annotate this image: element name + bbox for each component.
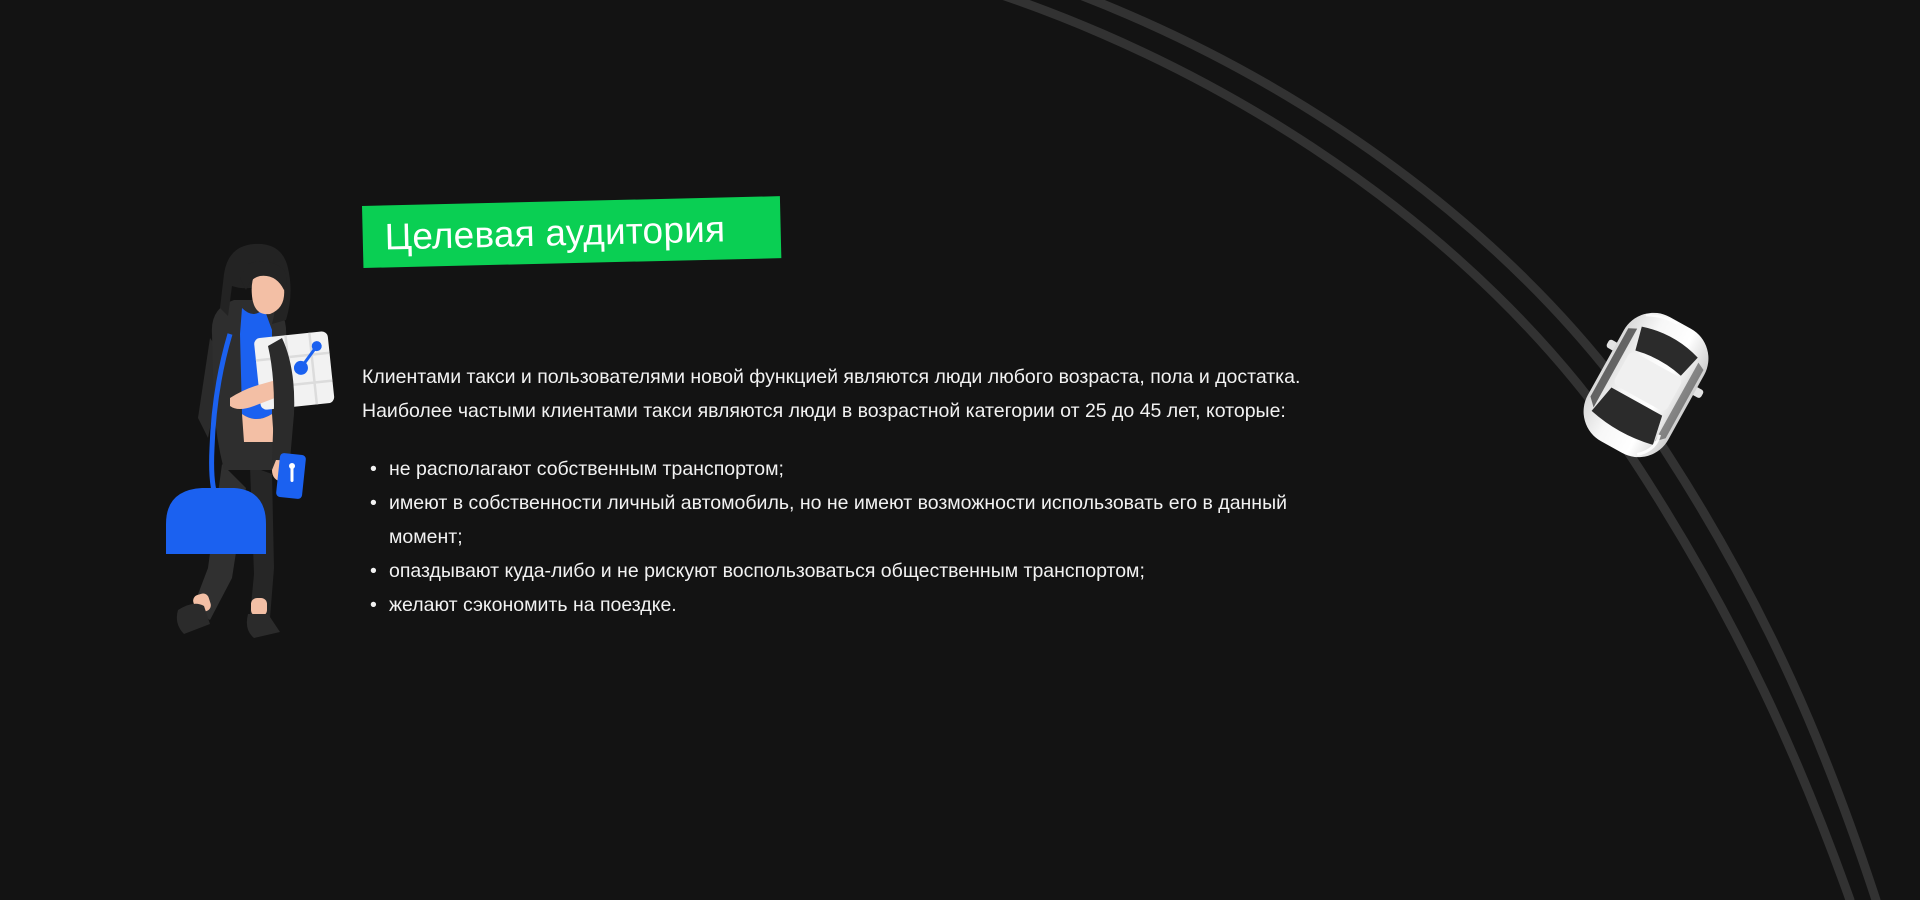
list-item: имеют в собственности личный автомобиль,…	[362, 486, 1362, 554]
white-car-top-view-illustration	[1557, 290, 1735, 479]
list-item: желают сэкономить на поездке.	[362, 588, 1362, 622]
page-title: Целевая аудитория	[362, 210, 725, 256]
woman-with-map-and-bag-illustration	[150, 238, 350, 658]
audience-bullet-list: не располагают собственным транспортом; …	[362, 452, 1362, 622]
list-item: не располагают собственным транспортом;	[362, 452, 1362, 486]
intro-paragraph: Клиентами такси и пользователями новой ф…	[362, 360, 1362, 428]
slide-title-banner: Целевая аудитория	[362, 196, 781, 268]
list-item: опаздывают куда-либо и не рискуют воспол…	[362, 554, 1362, 588]
presentation-slide: Целевая аудитория Клиентами такси и поль…	[0, 0, 1920, 900]
slide-body: Клиентами такси и пользователями новой ф…	[362, 360, 1362, 622]
